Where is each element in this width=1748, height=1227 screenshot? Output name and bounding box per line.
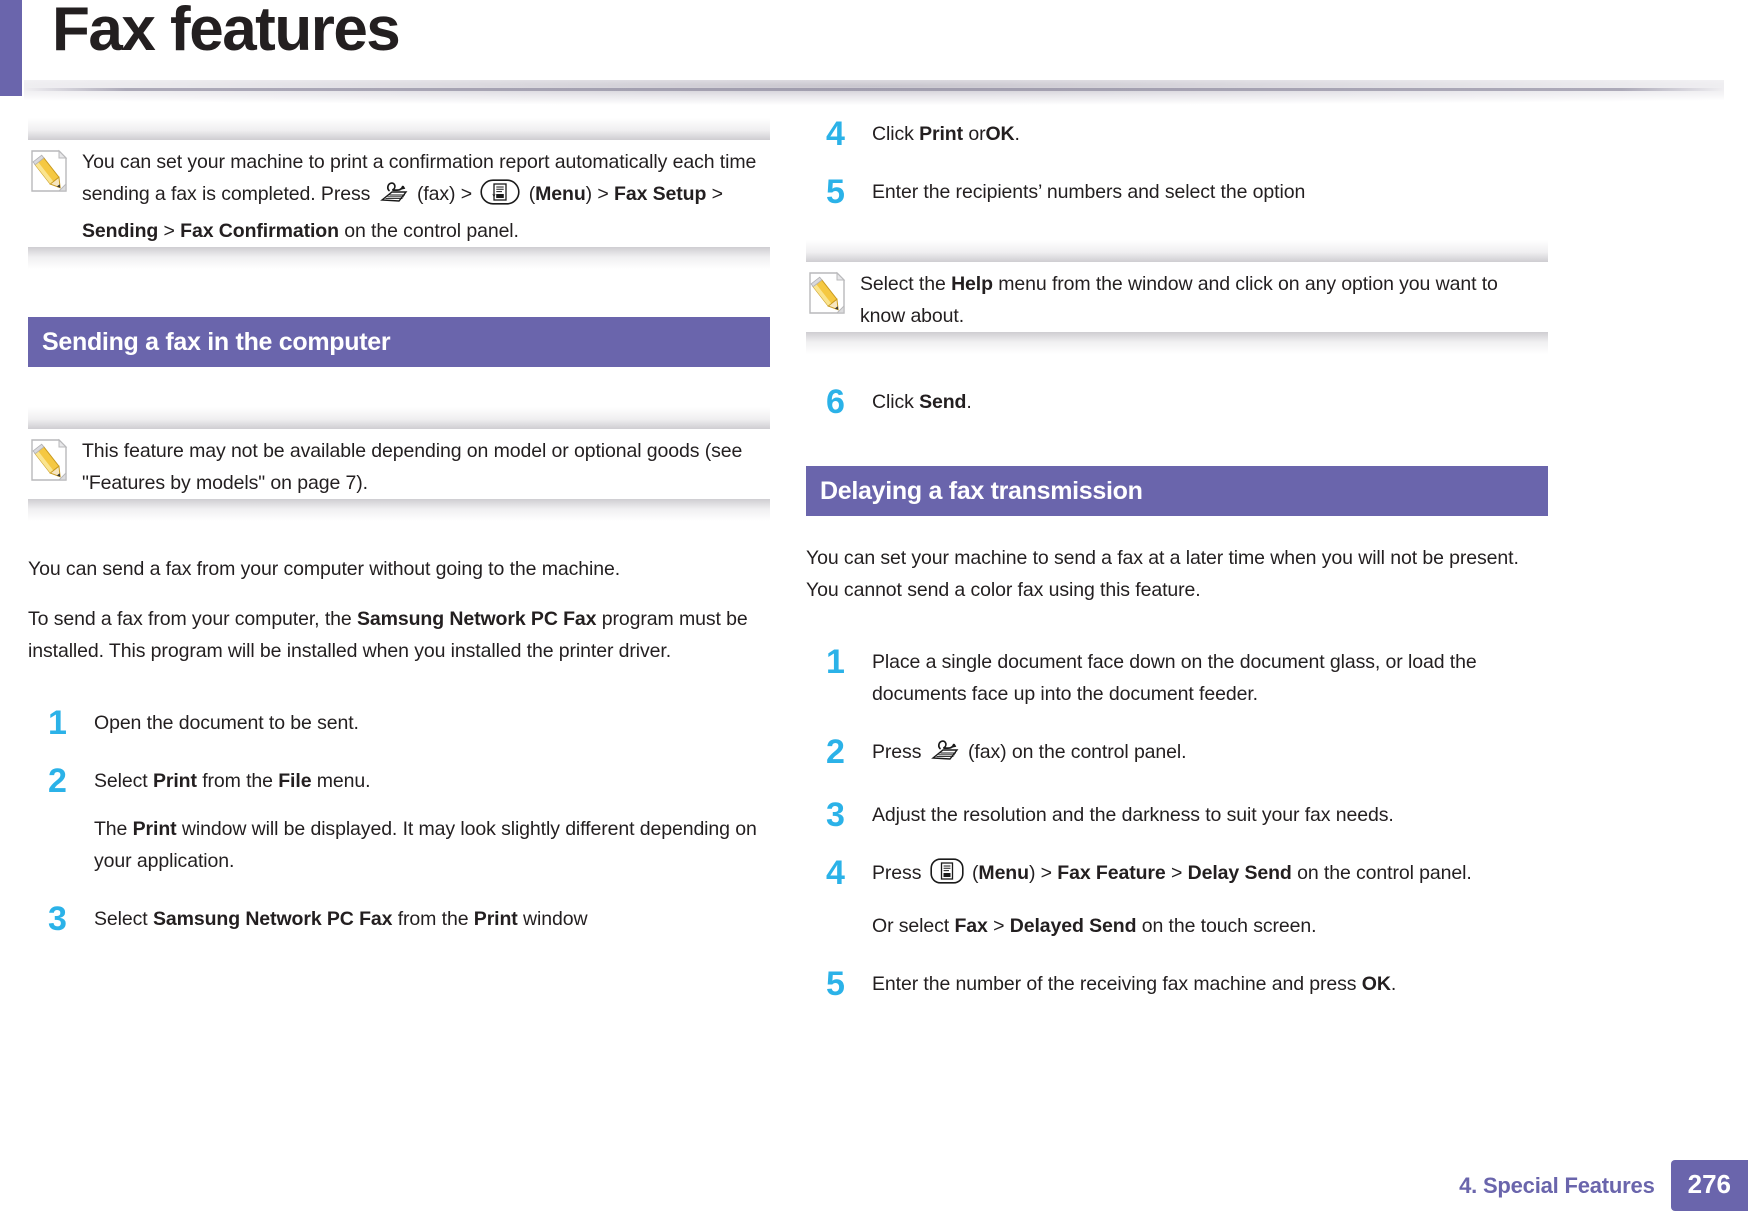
paragraph-send-from-computer: You can send a fax from your computer wi… <box>28 553 770 585</box>
step-number: 2 <box>806 736 872 767</box>
step-sub-pre: The <box>94 818 127 840</box>
left-column: You can set your machine to print a conf… <box>28 118 770 935</box>
step-text: Press (Menu) > Fax Feature > Delay Send … <box>872 857 1548 942</box>
step-item: 5 Enter the number of the receiving fax … <box>806 968 1548 1000</box>
step-bold-ok: OK <box>985 123 1014 145</box>
step-number: 4 <box>806 118 872 149</box>
step-item: 4 Press (Menu) > Fax Feature > Delay Sen… <box>806 857 1548 942</box>
step-text-mid: or <box>968 123 985 145</box>
note-path-3: Fax Confirmation <box>180 220 339 242</box>
paragraph-bold-program-name: Samsung Network PC Fax <box>357 608 596 630</box>
section-heading-delaying-fax: Delaying a fax transmission <box>806 466 1548 516</box>
step-separator-2: > <box>1171 862 1182 884</box>
step-number: 2 <box>28 765 94 796</box>
step-item: 4 Click Print orOK. <box>806 118 1548 150</box>
header-accent-bar <box>0 0 22 96</box>
note-separator-1: > <box>461 183 472 205</box>
step-menu-close-paren: ) <box>1029 862 1035 884</box>
step-sub-separator: > <box>993 915 1004 937</box>
step-text-pre: Click <box>872 391 914 413</box>
step-text-post: . <box>966 391 971 413</box>
step-bold-delay-send: Delay Send <box>1188 862 1292 884</box>
step-text-post: . <box>1391 973 1396 995</box>
note-fax-label: (fax) <box>417 183 456 205</box>
step-text-pre: Press <box>872 862 921 884</box>
step-text: Enter the recipients’ numbers and select… <box>872 176 1548 208</box>
step-bold-print: Print <box>153 770 197 792</box>
step-bold-ok: OK <box>1362 973 1391 995</box>
step-number: 1 <box>806 646 872 677</box>
note-separator-2: > <box>597 183 608 205</box>
step-text-post: menu. <box>317 770 371 792</box>
menu-button-icon <box>930 858 964 894</box>
step-item: 1 Open the document to be sent. <box>28 707 770 739</box>
note-text: This feature may not be available depend… <box>82 433 766 499</box>
step-text: Select Samsung Network PC Fax from the P… <box>94 903 770 935</box>
step-sub-pre: Or select <box>872 915 949 937</box>
step-text: Press (fax) on the control panel. <box>872 736 1548 773</box>
menu-button-icon: * <box>480 179 520 215</box>
step-sub-bold-print: Print <box>133 818 177 840</box>
note-pencil-icon <box>28 148 70 194</box>
footer-chapter-label: 4. Special Features <box>1459 1163 1671 1209</box>
step-sub-paragraph: The Print window will be displayed. It m… <box>94 813 770 877</box>
fax-handset-icon <box>379 181 409 215</box>
step-item: 3 Select Samsung Network PC Fax from the… <box>28 903 770 935</box>
step-text-mid: from the <box>202 770 273 792</box>
step-text-pre: Press <box>872 741 921 763</box>
step-item: 1 Place a single document face down on t… <box>806 646 1548 710</box>
step-text-pre: Enter the number of the receiving fax ma… <box>872 973 1356 995</box>
step-bold-send: Send <box>919 391 966 413</box>
footer-page-number: 276 <box>1671 1160 1748 1211</box>
fax-handset-icon <box>930 739 960 773</box>
svg-text:*: * <box>493 191 497 201</box>
note-text-part-2: on the control panel. <box>344 220 519 242</box>
step-sub-post: window will be displayed. It may look sl… <box>94 818 757 872</box>
step-item: 6 Click Send. <box>806 386 1548 418</box>
step-text-post: on the control panel. <box>1297 862 1472 884</box>
note-menu-label: Menu <box>535 183 586 205</box>
step-text: Place a single document face down on the… <box>872 646 1548 710</box>
note-separator-3: > <box>712 183 723 205</box>
step-sub-post: on the touch screen. <box>1142 915 1317 937</box>
step-item: 2 Select Print from the File menu. The P… <box>28 765 770 877</box>
header-rule <box>24 88 1724 91</box>
step-text-post: . <box>1015 123 1020 145</box>
step-text: Click Print orOK. <box>872 118 1548 150</box>
step-text-pre: Select <box>94 770 148 792</box>
note-text: You can set your machine to print a conf… <box>82 144 766 247</box>
step-menu-bold: Menu <box>978 862 1029 884</box>
step-bold-print: Print <box>474 908 518 930</box>
step-separator-1: > <box>1041 862 1052 884</box>
note-path-1: Fax Setup <box>614 183 706 205</box>
step-bold-program-name: Samsung Network PC Fax <box>153 908 392 930</box>
step-text-pre: Select <box>94 908 148 930</box>
paragraph-delay-intro: You can set your machine to send a fax a… <box>806 542 1548 606</box>
section-heading-sending-fax: Sending a fax in the computer <box>28 317 770 367</box>
step-number: 3 <box>28 903 94 934</box>
step-number: 5 <box>806 176 872 207</box>
step-text: Open the document to be sent. <box>94 707 770 739</box>
paragraph-pre: To send a fax from your computer, the <box>28 608 352 630</box>
note-text: Select the Help menu from the window and… <box>860 266 1544 332</box>
step-bold-fax-feature: Fax Feature <box>1057 862 1165 884</box>
note-path-2: Sending <box>82 220 158 242</box>
paragraph-pc-fax-program: To send a fax from your computer, the Sa… <box>28 603 770 667</box>
step-number: 5 <box>806 968 872 999</box>
step-bold-file: File <box>278 770 311 792</box>
right-column: 4 Click Print orOK. 5 Enter the recipien… <box>806 118 1548 1000</box>
step-item: 5 Enter the recipients’ numbers and sele… <box>806 176 1548 208</box>
header-shadow-divider <box>24 80 1724 114</box>
note-menu-close-paren: ) <box>586 183 592 205</box>
step-number: 3 <box>806 799 872 830</box>
note-box-help-menu: Select the Help menu from the window and… <box>806 240 1548 354</box>
step-text: Select Print from the File menu. The Pri… <box>94 765 770 877</box>
step-text-post: window <box>523 908 587 930</box>
note-box-feature-availability: This feature may not be available depend… <box>28 407 770 521</box>
step-text-post: on the control panel. <box>1012 741 1187 763</box>
step-number: 6 <box>806 386 872 417</box>
step-bold-print: Print <box>919 123 963 145</box>
step-text-mid: from the <box>398 908 469 930</box>
step-item: 2 Press (fax) on the control panel. <box>806 736 1548 773</box>
note-bold-help: Help <box>951 273 993 295</box>
step-item: 3 Adjust the resolution and the darkness… <box>806 799 1548 831</box>
page-footer: 4. Special Features 276 <box>1459 1160 1748 1211</box>
step-text: Enter the number of the receiving fax ma… <box>872 968 1548 1000</box>
step-number: 1 <box>28 707 94 738</box>
page-title: Fax features <box>52 0 399 65</box>
note-text-pre: Select the <box>860 273 946 295</box>
step-fax-label: (fax) <box>968 741 1007 763</box>
step-sub-paragraph: Or select Fax > Delayed Send on the touc… <box>872 910 1548 942</box>
note-separator-4: > <box>164 220 175 242</box>
step-text-pre: Click <box>872 123 914 145</box>
step-text: Click Send. <box>872 386 1548 418</box>
note-box-confirmation-report: You can set your machine to print a conf… <box>28 118 770 269</box>
step-number: 4 <box>806 857 872 888</box>
note-pencil-icon <box>28 437 70 483</box>
step-sub-bold-fax: Fax <box>954 915 987 937</box>
note-pencil-icon <box>806 270 848 316</box>
step-sub-bold-delayed-send: Delayed Send <box>1010 915 1137 937</box>
document-page: Fax features <box>0 0 1748 1227</box>
step-text: Adjust the resolution and the darkness t… <box>872 799 1548 831</box>
